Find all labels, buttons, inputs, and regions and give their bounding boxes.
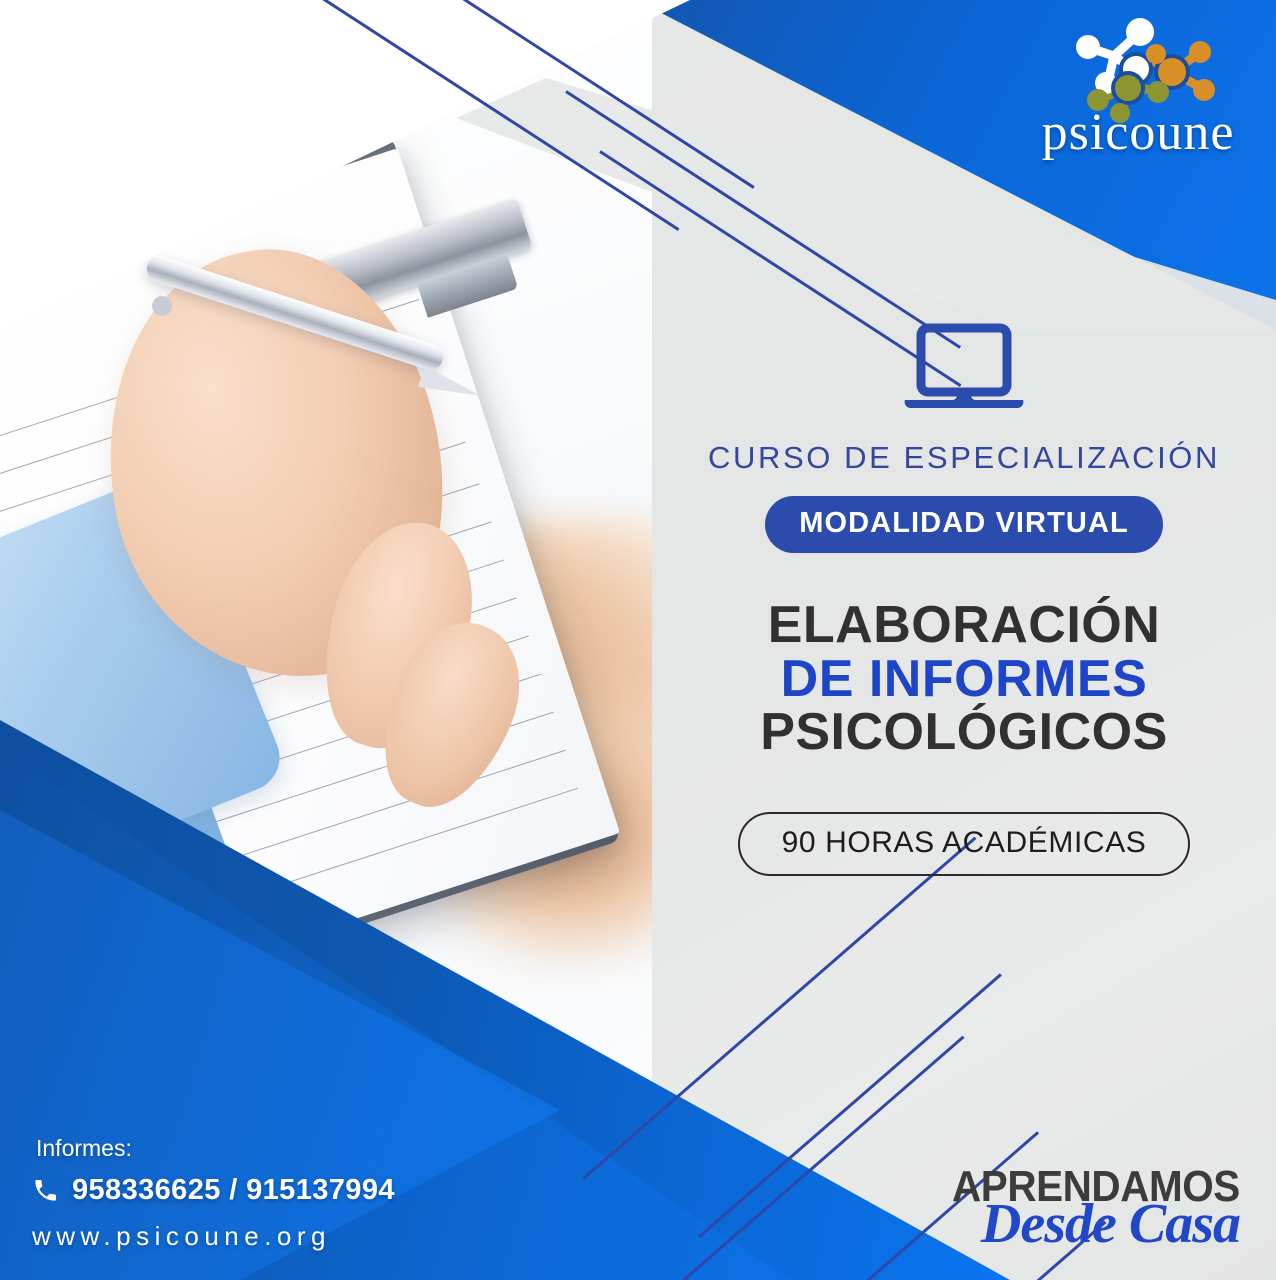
course-title-line-1: ELABORACIÓN xyxy=(652,599,1276,653)
course-title-line-3: PSICOLÓGICOS xyxy=(652,706,1276,760)
informes-label: Informes: xyxy=(36,1135,462,1162)
phone-icon xyxy=(32,1177,59,1204)
course-title-line-2: DE INFORMES xyxy=(652,653,1276,707)
promotional-poster: Medical card Name Date of birth Gender A… xyxy=(0,0,1276,1280)
course-title: ELABORACIÓN DE INFORMES PSICOLÓGICOS xyxy=(652,599,1276,760)
website-url[interactable]: www.psicoune.org xyxy=(32,1221,462,1252)
academic-hours-badge: 90 HORAS ACADÉMICAS xyxy=(738,812,1191,876)
phone-numbers[interactable]: 958336625 / 915137994 xyxy=(32,1174,462,1207)
modality-badge: MODALIDAD VIRTUAL xyxy=(765,496,1163,553)
course-kicker: CURSO DE ESPECIALIZACIÓN xyxy=(652,440,1276,476)
logo-wordmark: psicoune xyxy=(1030,103,1246,162)
brand-logo[interactable]: psicoune xyxy=(1030,14,1246,164)
phone-numbers-text: 958336625 / 915137994 xyxy=(72,1174,395,1207)
slogan-line-1: APRENDAMOS xyxy=(952,1162,1240,1212)
contact-block: Informes: 958336625 / 915137994 www.psic… xyxy=(32,1135,462,1252)
hero-content: CURSO DE ESPECIALIZACIÓN MODALIDAD VIRTU… xyxy=(652,322,1276,876)
slogan-block: APRENDAMOS Desde Casa xyxy=(927,1162,1240,1256)
laptop-icon xyxy=(903,322,1025,414)
